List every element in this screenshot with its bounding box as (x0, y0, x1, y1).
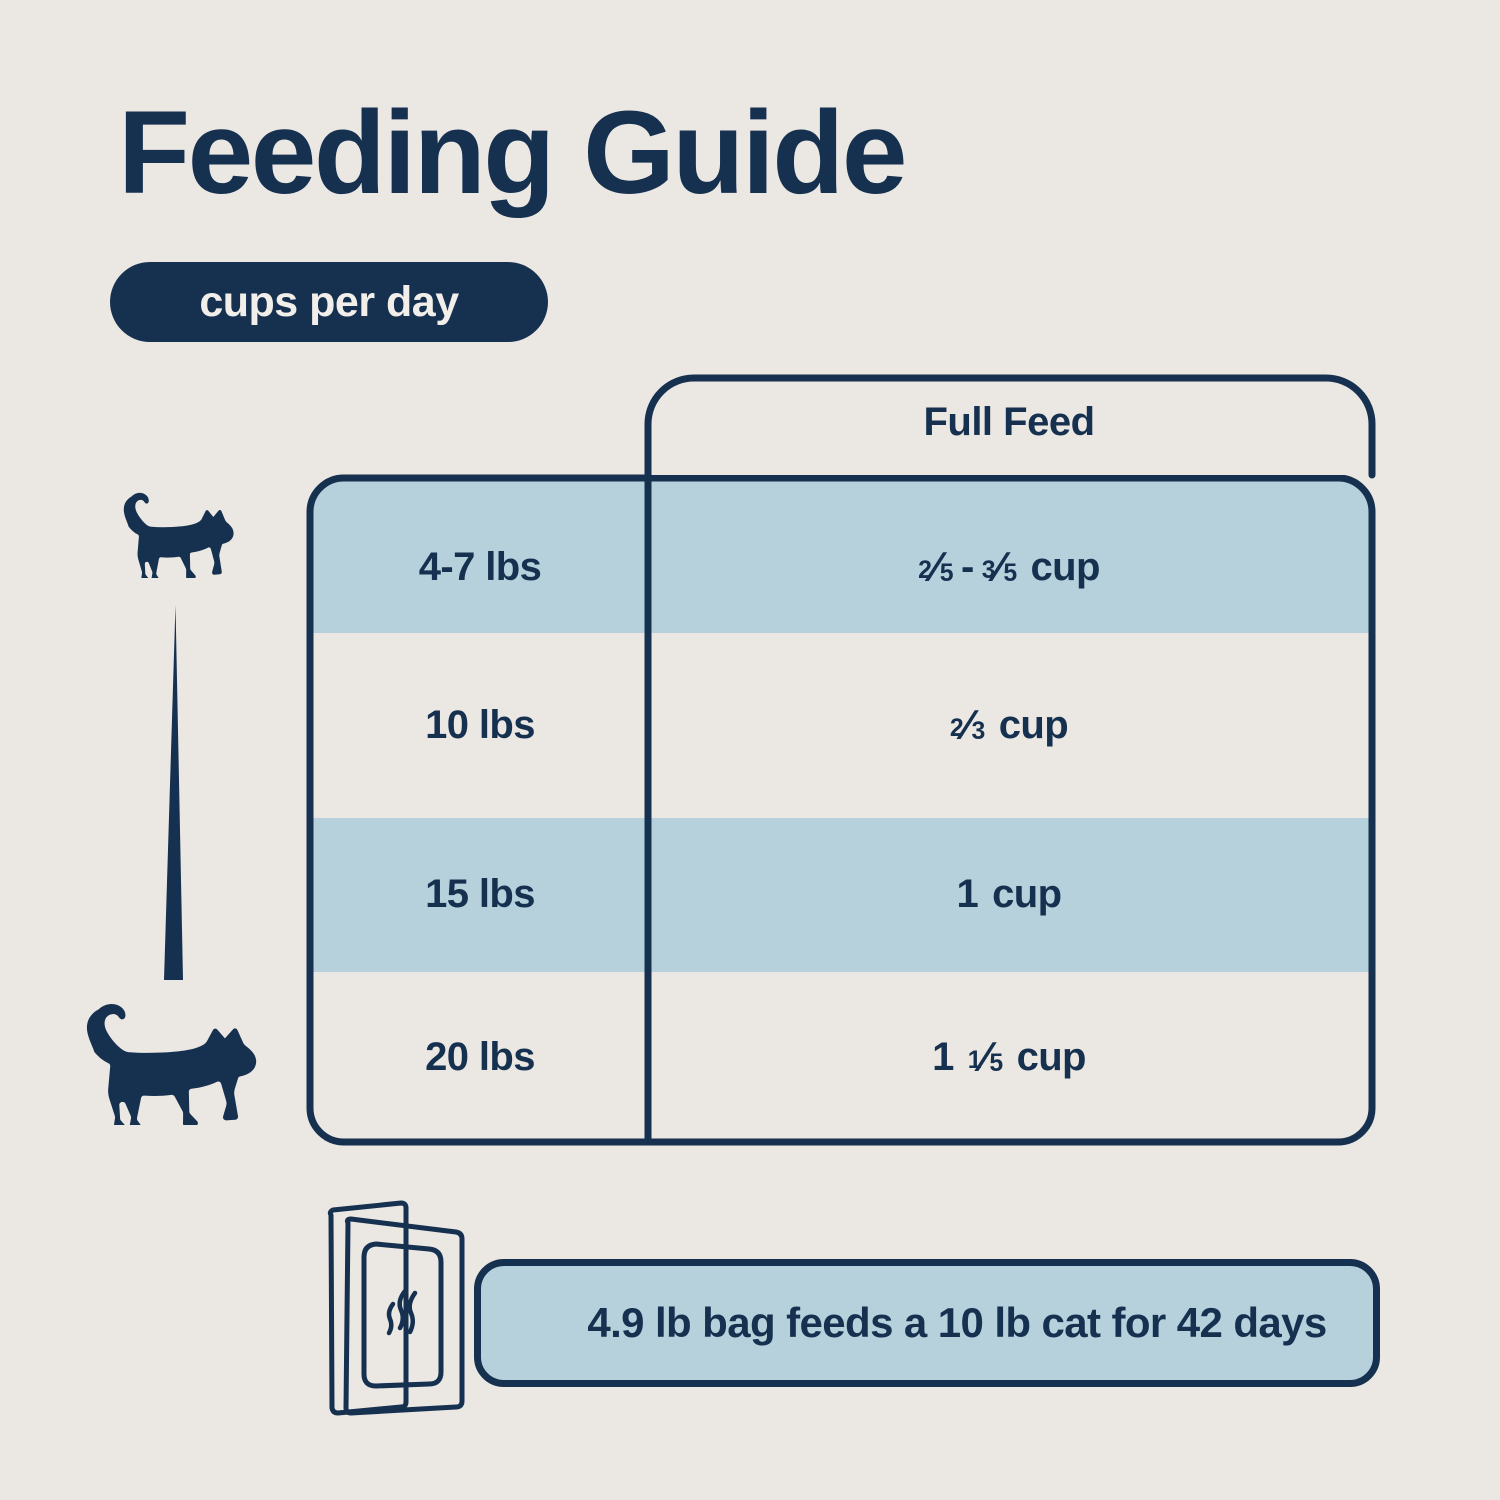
amount-whole: 1 (957, 872, 979, 917)
unit-label: cup (978, 872, 1061, 917)
cat-silhouette-small-icon (118, 490, 238, 578)
cell-weight: 4-7 lbs (419, 545, 542, 590)
cell-amount: 2⁄5 - 3⁄5 cup (648, 542, 1370, 592)
subtitle-pill: cups per day (110, 262, 548, 342)
table-row: 20 lbs (312, 1032, 648, 1082)
fraction-one-fifth: 1⁄5 (954, 1033, 1003, 1081)
fraction-three-fifths: 3⁄5 (982, 543, 1017, 591)
size-scale-wedge-icon (150, 605, 202, 980)
table-row: 15 lbs (312, 869, 648, 919)
cell-weight: 15 lbs (425, 872, 535, 917)
fraction-two-fifths: 2⁄5 (918, 543, 953, 591)
fraction-two-thirds: 2⁄3 (950, 701, 985, 749)
unit-label: cup (985, 703, 1068, 748)
table-row: 10 lbs (312, 700, 648, 750)
column-header-full-feed: Full Feed (648, 400, 1370, 445)
feeding-table: Full Feed 4-7 lbs 2⁄5 - 3⁄5 cup 10 lbs 2… (300, 362, 1382, 1152)
amount-whole: 1 (932, 1035, 954, 1080)
subtitle-pill-label: cups per day (199, 278, 458, 327)
bag-duration-text: 4.9 lb bag feeds a 10 lb cat for 42 days (527, 1299, 1326, 1347)
flame-swirl-logo-icon (389, 1291, 415, 1333)
unit-label: cup (1017, 545, 1100, 590)
cell-weight: 20 lbs (425, 1035, 535, 1080)
cell-amount: 1 1⁄5 cup (648, 1032, 1370, 1082)
cell-weight: 10 lbs (425, 703, 535, 748)
cell-amount: 1 cup (648, 869, 1370, 919)
table-row: 4-7 lbs (312, 542, 648, 592)
page-title: Feeding Guide (118, 92, 905, 216)
food-bag-icon (305, 1194, 505, 1419)
unit-label: cup (1003, 1035, 1086, 1080)
feeding-guide-infographic: Feeding Guide cups per day (0, 0, 1500, 1500)
bag-duration-banner: 4.9 lb bag feeds a 10 lb cat for 42 days (474, 1259, 1380, 1387)
cell-amount: 2⁄3 cup (648, 700, 1370, 750)
cat-silhouette-large-icon (78, 1000, 263, 1125)
